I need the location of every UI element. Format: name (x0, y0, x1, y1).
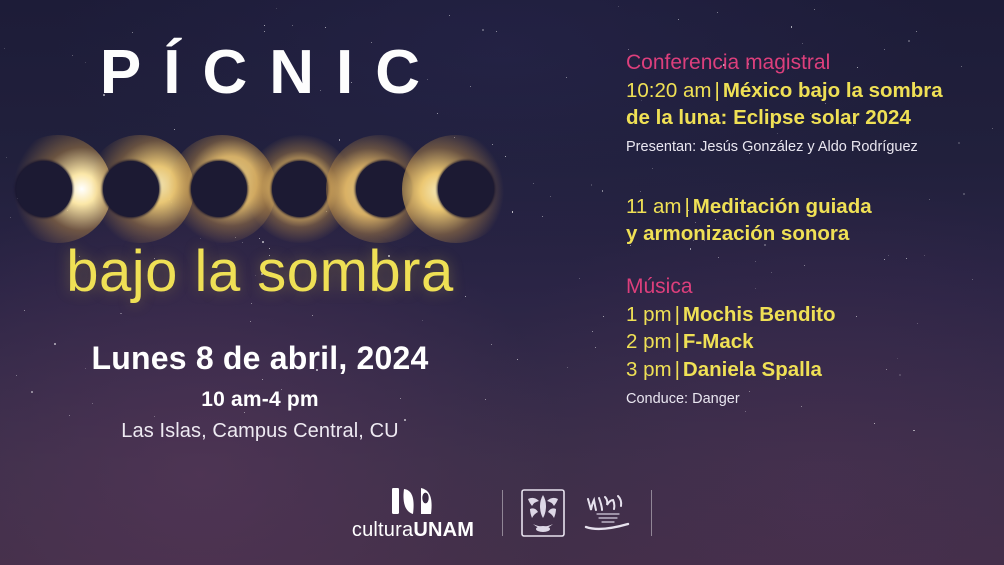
culturaunam-wordmark: culturaUNAM (352, 520, 474, 540)
moon-disc (272, 161, 328, 217)
music-act-row: 1 pm|Mochis Bendito (626, 301, 996, 329)
star (595, 347, 596, 348)
star (592, 331, 593, 332)
music-act-name: F-Mack (683, 330, 754, 353)
star (678, 19, 679, 20)
poster-canvas: PÍCNIC bajo la sombra Lunes 8 de abril, … (0, 0, 1004, 565)
meditation-separator: | (681, 195, 692, 218)
meditation-title-line2: y armonización sonora (626, 220, 996, 248)
program-section-conference: Conferencia magistral 10:20 am|México ba… (626, 50, 996, 157)
star (791, 26, 793, 28)
music-act-name: Daniela Spalla (683, 358, 822, 381)
culturaunam-mark-icon (390, 486, 436, 516)
moon-disc (103, 161, 159, 217)
music-note: Conduce: Danger (626, 390, 996, 409)
unam-shield-logo (521, 489, 565, 537)
music-act-separator: | (672, 330, 683, 353)
star (603, 316, 604, 317)
moon-disc (16, 161, 72, 217)
meditation-title-line1: Meditación guiada (693, 195, 872, 218)
music-act-time: 1 pm (626, 303, 672, 326)
music-act-name: Mochis Bendito (683, 303, 836, 326)
star (579, 278, 581, 280)
star (567, 367, 568, 368)
unam-script-logo (583, 493, 633, 533)
event-date: Lunes 8 de abril, 2024 (0, 340, 520, 377)
meditation-time-row: 11 am|Meditación guiada (626, 193, 996, 221)
footer-logo-bar: culturaUNAM (0, 481, 1004, 545)
music-heading: Música (626, 274, 996, 300)
cultura-word: cultura (352, 519, 413, 541)
poster-program-column: Conferencia magistral 10:20 am|México ba… (626, 50, 996, 409)
star (874, 423, 875, 424)
conference-note: Presentan: Jesús González y Aldo Rodrígu… (626, 138, 996, 157)
event-venue: Las Islas, Campus Central, CU (0, 420, 520, 443)
spacer-meditation-music (626, 248, 996, 274)
music-act-time: 2 pm (626, 330, 672, 353)
unam-word: UNAM (413, 519, 474, 541)
phase-6-last-contact (410, 143, 502, 235)
conference-time-row: 10:20 am|México bajo la sombra (626, 77, 996, 105)
meditation-time: 11 am (626, 195, 681, 218)
eclipse-phase-sequence (0, 143, 520, 235)
star (591, 184, 593, 186)
conference-separator: | (711, 79, 722, 102)
program-section-meditation: 11 am|Meditación guiada y armonización s… (626, 193, 996, 248)
star (618, 6, 619, 7)
music-act-separator: | (672, 358, 683, 381)
music-act-time: 3 pm (626, 358, 672, 381)
star (908, 40, 910, 42)
star (745, 411, 746, 412)
star (814, 9, 815, 10)
conference-title-line1: México bajo la sombra (723, 79, 943, 102)
moon-disc (191, 161, 247, 217)
poster-title: PÍCNIC (0, 42, 520, 104)
star (913, 430, 915, 432)
star (802, 43, 803, 44)
music-act-row: 2 pm|F-Mack (626, 328, 996, 356)
program-section-music: Música 1 pm|Mochis Bendito 2 pm|F-Mack 3… (626, 274, 996, 408)
poster-subtitle: bajo la sombra (0, 243, 520, 301)
music-act-row: 3 pm|Daniela Spalla (626, 356, 996, 384)
culturaunam-logo: culturaUNAM (352, 486, 474, 540)
star (550, 196, 551, 197)
star (916, 31, 917, 32)
event-time: 10 am-4 pm (0, 388, 520, 412)
conference-time: 10:20 am (626, 79, 711, 102)
star (717, 12, 718, 13)
footer-divider (651, 490, 652, 536)
star (566, 77, 567, 78)
spacer-conference-meditation (626, 157, 996, 193)
star (602, 190, 604, 192)
footer-divider (502, 490, 503, 536)
music-act-separator: | (672, 303, 683, 326)
conference-title-line2: de la luna: Eclipse solar 2024 (626, 104, 996, 132)
moon-disc (438, 161, 494, 217)
conference-heading: Conferencia magistral (626, 50, 996, 76)
